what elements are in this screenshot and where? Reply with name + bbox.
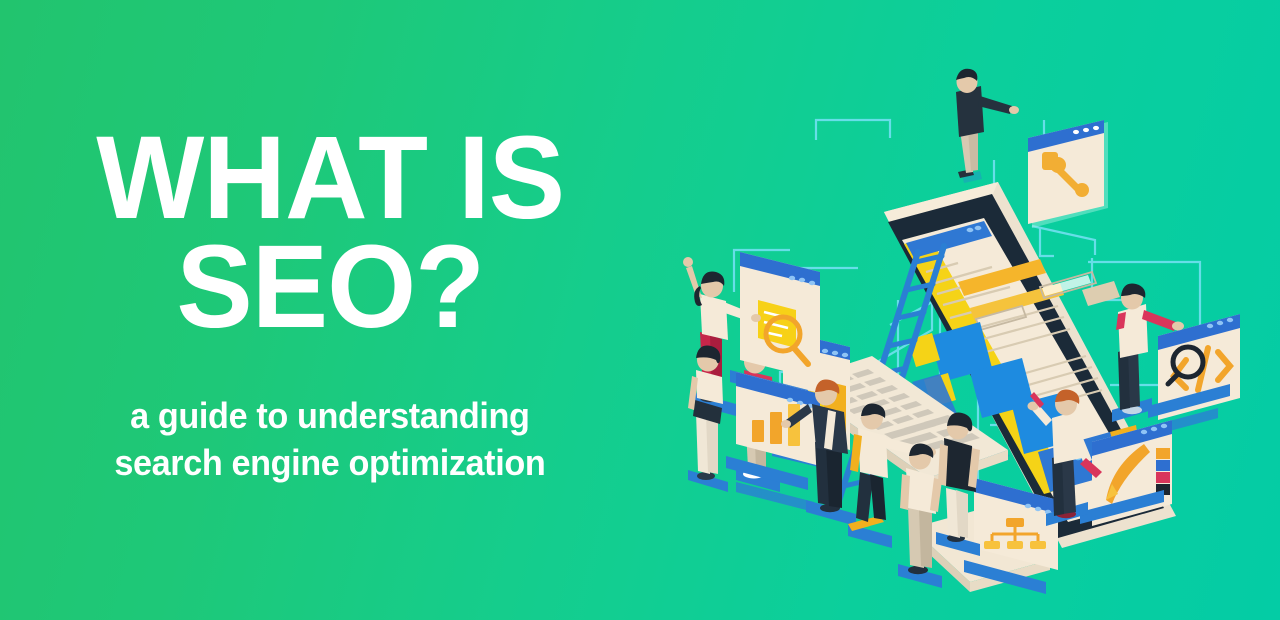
subtitle-line-1: a guide to understanding	[114, 393, 545, 439]
person-top-monitor	[956, 69, 1019, 183]
text-panel: WHAT IS SEO? a guide to understanding se…	[0, 0, 660, 620]
card-link	[1028, 120, 1108, 228]
card-analytics	[726, 372, 820, 512]
headline-line-2: SEO?	[96, 233, 564, 342]
subtitle-line-2: search engine optimization	[114, 440, 545, 486]
seo-banner: WHAT IS SEO? a guide to understanding se…	[0, 0, 1280, 620]
seo-illustration	[640, 0, 1280, 620]
illustration-svg	[640, 0, 1280, 620]
page-title: WHAT IS SEO?	[96, 124, 564, 341]
page-subtitle: a guide to understanding search engine o…	[114, 393, 545, 485]
card-code	[1136, 314, 1240, 440]
